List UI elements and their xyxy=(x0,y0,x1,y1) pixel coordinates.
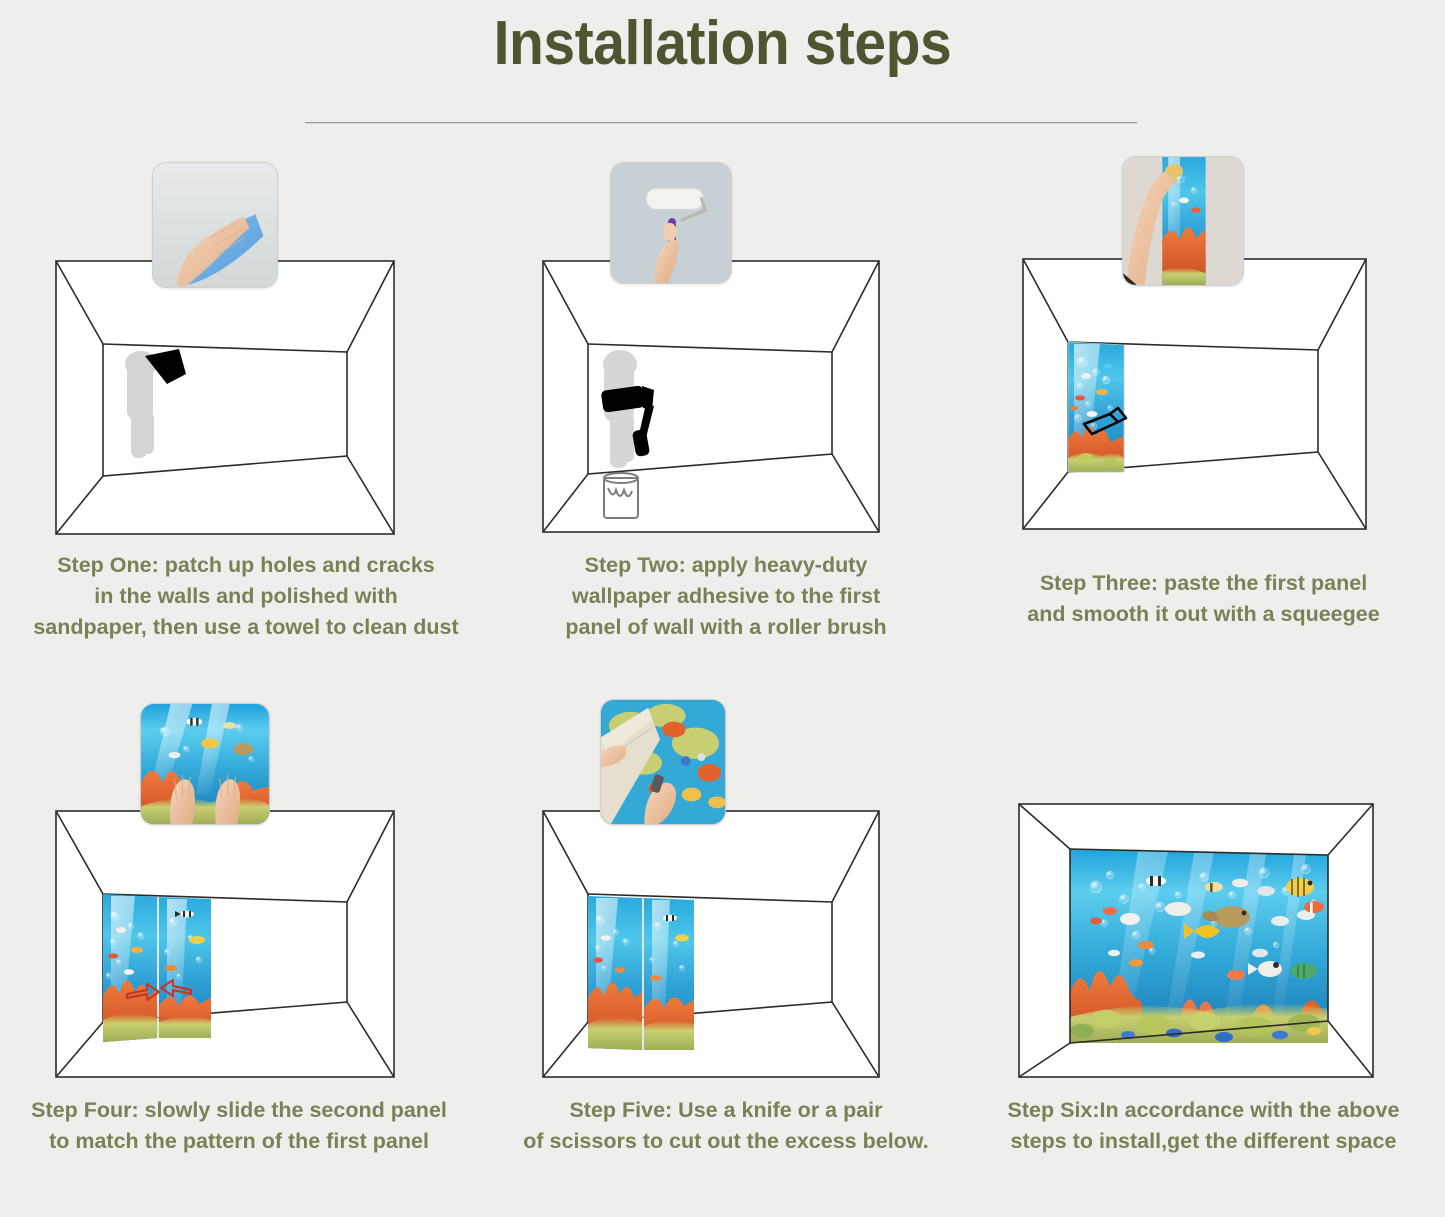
caption-line: panel of wall with a roller brush xyxy=(492,612,960,643)
step-six-caption: Step Six:In accordance with the above st… xyxy=(962,1095,1445,1157)
step-four-cell: Step Four: slowly slide the second panel… xyxy=(0,695,492,1200)
caption-line: wallpaper adhesive to the first xyxy=(492,581,960,612)
caption-line: of scissors to cut out the excess below. xyxy=(492,1126,960,1157)
caption-line: steps to install,get the different space xyxy=(962,1126,1445,1157)
steps-row-top: Step One: patch up holes and cracks in t… xyxy=(0,150,1445,670)
caption-line: Step One: patch up holes and cracks xyxy=(8,550,484,581)
step-two-caption: Step Two: apply heavy-duty wallpaper adh… xyxy=(492,550,960,643)
step-one-room-diagram xyxy=(55,260,395,535)
title-divider xyxy=(305,122,1137,124)
step-five-room-diagram xyxy=(542,810,880,1078)
step-two-cell: Step Two: apply heavy-duty wallpaper adh… xyxy=(492,150,962,670)
caption-line: sandpaper, then use a towel to clean dus… xyxy=(8,612,484,643)
step-three-thumbnail xyxy=(1122,156,1244,286)
page-title: Installation steps xyxy=(58,8,1387,79)
mural-panel-one xyxy=(103,894,157,1042)
step-three-room-diagram xyxy=(1022,258,1367,530)
step-five-cell: Step Five: Use a knife or a pair of scis… xyxy=(492,695,962,1200)
caption-line: to match the pattern of the first panel xyxy=(0,1126,478,1157)
step-three-caption: Step Three: paste the first panel and sm… xyxy=(962,568,1445,630)
mural-panel-two xyxy=(159,897,211,1038)
step-one-cell: Step One: patch up holes and cracks in t… xyxy=(0,150,492,670)
installation-steps-infographic: Installation steps xyxy=(0,0,1445,1217)
caption-line: Step Six:In accordance with the above xyxy=(962,1095,1445,1126)
step-four-caption: Step Four: slowly slide the second panel… xyxy=(0,1095,478,1157)
caption-line: and smooth it out with a squeegee xyxy=(962,599,1445,630)
mural-full-wall xyxy=(1070,849,1328,1043)
caption-line: Step Two: apply heavy-duty xyxy=(492,550,960,581)
step-five-caption: Step Five: Use a knife or a pair of scis… xyxy=(492,1095,960,1157)
steps-row-bottom: Step Four: slowly slide the second panel… xyxy=(0,695,1445,1200)
step-four-thumbnail xyxy=(140,703,270,825)
mural-panel-one xyxy=(1068,342,1124,472)
caption-line: Step Four: slowly slide the second panel xyxy=(0,1095,478,1126)
step-two-thumbnail xyxy=(610,162,732,284)
steps-grid: Step One: patch up holes and cracks in t… xyxy=(0,150,1445,1200)
step-five-thumbnail xyxy=(600,699,726,825)
step-three-cell: Step Three: paste the first panel and sm… xyxy=(962,150,1445,670)
step-six-room-diagram xyxy=(1018,803,1374,1078)
step-six-cell: Step Six:In accordance with the above st… xyxy=(962,695,1445,1200)
caption-line: Step Five: Use a knife or a pair xyxy=(492,1095,960,1126)
step-one-caption: Step One: patch up holes and cracks in t… xyxy=(8,550,484,643)
step-one-thumbnail xyxy=(152,162,278,288)
caption-line: Step Three: paste the first panel xyxy=(962,568,1445,599)
caption-line: in the walls and polished with xyxy=(8,581,484,612)
step-two-room-diagram xyxy=(542,260,880,533)
mural-panel-one xyxy=(588,896,642,1050)
step-four-room-diagram xyxy=(55,810,395,1078)
mural-panel-two xyxy=(644,898,694,1050)
